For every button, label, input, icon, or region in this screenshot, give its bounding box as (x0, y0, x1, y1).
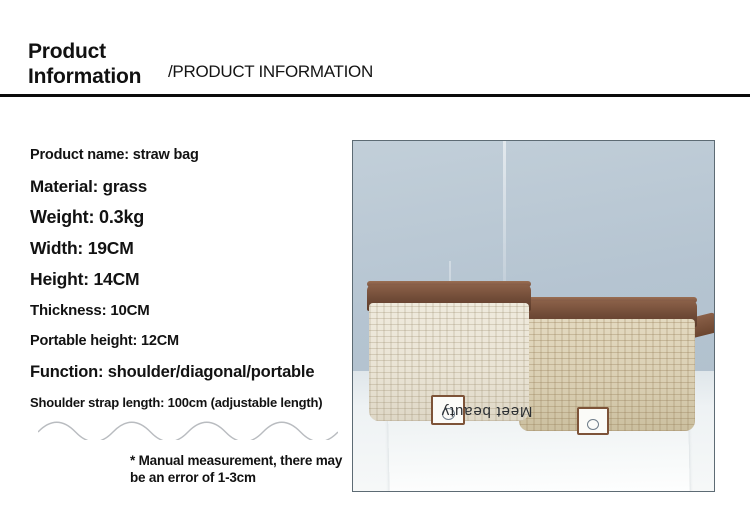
wavy-divider (38, 416, 338, 440)
spec-item-strap-length: Shoulder strap length: 100cm (adjustable… (30, 388, 350, 418)
spec-item-weight: Weight: 0.3kg (30, 202, 350, 233)
page-subtitle: /PRODUCT INFORMATION (168, 62, 373, 82)
product-photo: Meet beauty (352, 140, 715, 492)
brand-label-patch (577, 407, 609, 435)
spec-item-function: Function: shoulder/diagonal/portable (30, 357, 350, 388)
spec-item-product-name: Product name: straw bag (30, 140, 350, 171)
straw-bag-right (519, 279, 695, 429)
spec-item-width: Width: 19CM (30, 233, 350, 264)
page-title: Product Information (28, 39, 178, 89)
spec-item-thickness: Thickness: 10CM (30, 295, 350, 326)
page-header: Product Information /PRODUCT INFORMATION (0, 0, 750, 96)
spec-item-height: Height: 14CM (30, 264, 350, 295)
measurement-disclaimer: * Manual measurement, there may be an er… (130, 452, 345, 486)
spec-item-portable-height: Portable height: 12CM (30, 326, 350, 357)
specification-list: Product name: straw bag Material: grass … (30, 140, 350, 418)
spec-item-material: Material: grass (30, 171, 350, 202)
straw-body (519, 319, 695, 431)
header-divider (0, 94, 750, 97)
brand-card-text: Meet beauty (441, 403, 532, 420)
product-photo-scene: Meet beauty (353, 141, 714, 491)
straw-bag-left (369, 261, 529, 421)
